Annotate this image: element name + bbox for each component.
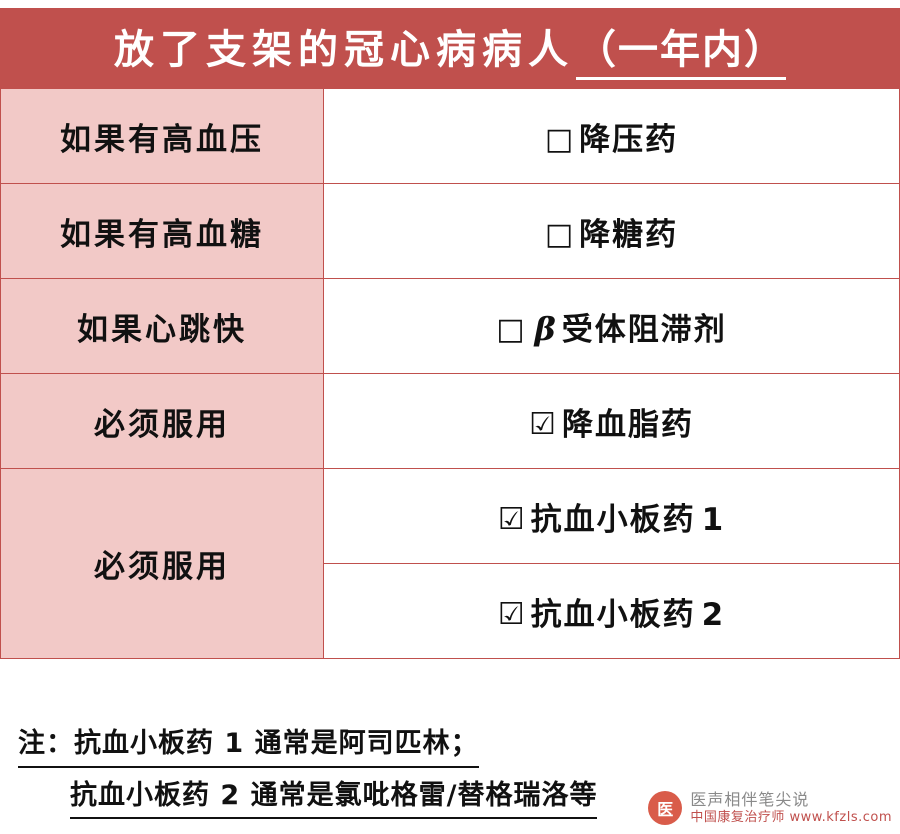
medication-index: 2 — [696, 597, 726, 633]
medication-cell: □β受体阻滞剂 — [324, 279, 900, 374]
medication-cell: □降压药 — [324, 89, 900, 184]
medication-table: 如果有高血压 □降压药 如果有高血糖 □降糖药 如果心跳快 □β受体阻滞剂 必须… — [0, 88, 900, 659]
medication-cell: □降糖药 — [324, 184, 900, 279]
medication-cell: ☑抗血小板药2 — [324, 564, 900, 659]
checkbox-checked-icon[interactable]: ☑ — [498, 597, 527, 632]
medication-label: 受体阻滞剂 — [562, 312, 727, 348]
title-bar: 放了支架的冠心病病人 （一年内） — [0, 8, 900, 88]
beta-symbol: β — [531, 310, 562, 348]
table-row: 必须服用 ☑抗血小板药1 — [1, 469, 900, 564]
medication-label: 降糖药 — [579, 217, 678, 253]
medication-label: 降压药 — [579, 122, 678, 158]
table-row: 必须服用 ☑降血脂药 — [1, 374, 900, 469]
footnote-line-1: 注：抗血小板药 1 通常是阿司匹林； — [18, 724, 479, 768]
page-title: 放了支架的冠心病病人 （一年内） — [114, 17, 786, 80]
checkbox-checked-icon[interactable]: ☑ — [529, 407, 558, 442]
medication-label: 抗血小板药 — [531, 502, 696, 538]
table-row: 如果心跳快 □β受体阻滞剂 — [1, 279, 900, 374]
footnotes: 注：抗血小板药 1 通常是阿司匹林； 抗血小板药 2 通常是氯吡格雷/替格瑞洛等 — [18, 724, 597, 827]
condition-cell: 必须服用 — [1, 469, 324, 659]
medication-cell: ☑降血脂药 — [324, 374, 900, 469]
watermark-texts: 医声相伴笔尖说 中国康复治疗师 www.kfzls.com — [690, 790, 892, 826]
checkbox-checked-icon[interactable]: ☑ — [498, 502, 527, 537]
condition-cell: 必须服用 — [1, 374, 324, 469]
medication-cell: ☑抗血小板药1 — [324, 469, 900, 564]
medication-label: 抗血小板药 — [531, 597, 696, 633]
watermark-sub-text: 中国康复治疗师 www.kfzls.com — [690, 810, 892, 826]
footnote-line-2: 抗血小板药 2 通常是氯吡格雷/替格瑞洛等 — [70, 776, 597, 820]
condition-cell: 如果有高血压 — [1, 89, 324, 184]
title-parenthetical-text: （一年内） — [576, 17, 786, 80]
medication-index: 1 — [696, 502, 726, 538]
checkbox-unchecked-icon[interactable]: □ — [545, 122, 575, 157]
poster-sheet: 放了支架的冠心病病人 （一年内） 如果有高血压 □降压药 如果有高血糖 □降糖药… — [0, 0, 900, 834]
table-row: 如果有高血压 □降压药 — [1, 89, 900, 184]
condition-cell: 如果有高血糖 — [1, 184, 324, 279]
checkbox-unchecked-icon[interactable]: □ — [545, 217, 575, 252]
table-row: 如果有高血糖 □降糖药 — [1, 184, 900, 279]
watermark-main-text: 医声相伴笔尖说 — [690, 790, 892, 810]
medication-label: 降血脂药 — [562, 407, 694, 443]
watermark: 医 医声相伴笔尖说 中国康复治疗师 www.kfzls.com — [648, 790, 892, 826]
title-main-text: 放了支架的冠心病病人 — [114, 17, 574, 75]
checkbox-unchecked-icon[interactable]: □ — [496, 312, 526, 347]
condition-cell: 如果心跳快 — [1, 279, 324, 374]
watermark-logo-icon: 医 — [648, 791, 682, 825]
